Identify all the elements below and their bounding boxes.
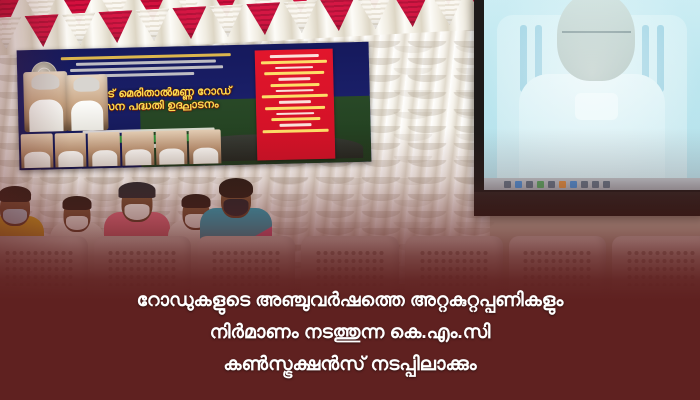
malayalam-caption: റോഡുകളുടെ അഞ്ചുവർഷത്തെ അറ്റകുറ്റപ്പണികളു…: [0, 285, 700, 381]
caption-line-3: കൺസ്ട്രക്ഷൻസ് നടപ്പിലാക്കും: [18, 349, 682, 381]
news-photo-card: പാലക്കാട് മെരിതാൽമണ്ണ റോഡ് വികസന പദ്ധതി …: [0, 0, 700, 400]
caption-line-2: നിർമാണം നടത്തുന്ന കെ.എം.സി: [18, 317, 682, 349]
caption-line-1: റോഡുകളുടെ അഞ്ചുവർഷത്തെ അറ്റകുറ്റപ്പണികളു…: [18, 285, 682, 317]
